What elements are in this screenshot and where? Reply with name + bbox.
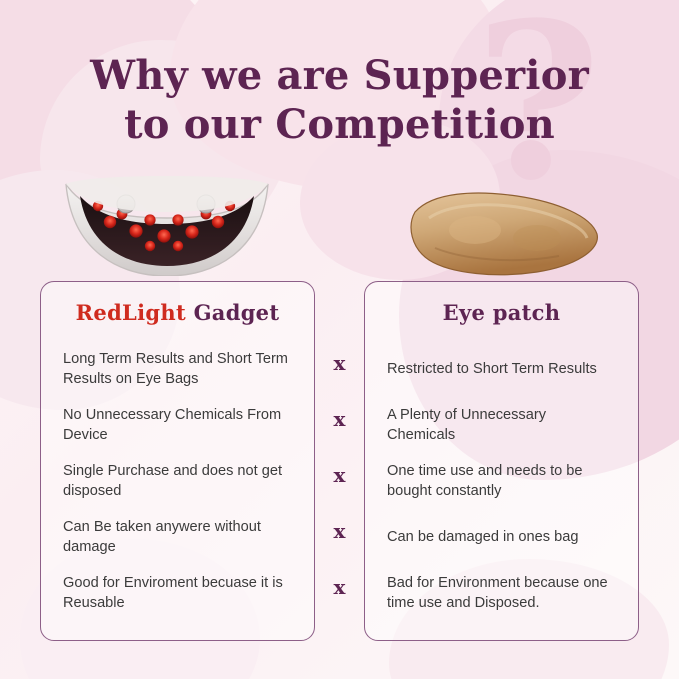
separator-mark: x	[315, 391, 364, 447]
list-item: Can be damaged in ones bag	[365, 509, 638, 565]
list-item: Single Purchase and does not get dispose…	[41, 453, 314, 509]
comparison-panel-left: RedLight Gadget Long Term Results and Sh…	[40, 281, 315, 641]
separator-column: x x x x x	[315, 335, 364, 615]
list-item: No Unnecessary Chemicals From Device	[41, 397, 314, 453]
list-item-text: Restricted to Short Term Results	[387, 359, 597, 379]
list-item-text: Long Term Results and Short Term Results…	[63, 349, 292, 389]
list-item: A Plenty of Unnecessary Chemicals	[365, 397, 638, 453]
separator-mark: x	[315, 335, 364, 391]
panel-right-rows: Restricted to Short Term Results A Plent…	[365, 341, 638, 621]
red-light-device-image	[58, 176, 276, 276]
list-item-text: Single Purchase and does not get dispose…	[63, 461, 292, 501]
page-title-line-2: to our Competition	[0, 101, 679, 150]
list-item-text: Can Be taken anywere without damage	[63, 517, 292, 557]
panel-left-title-red: RedLight	[76, 300, 186, 325]
panel-left-title: RedLight Gadget	[41, 300, 314, 325]
separator-mark: x	[315, 447, 364, 503]
promo-comparison-graphic: ? Why we are Supperior to our Competitio…	[0, 0, 679, 679]
comparison-panel-right: Eye patch Restricted to Short Term Resul…	[364, 281, 639, 641]
list-item-text: One time use and needs to be bought cons…	[387, 461, 616, 501]
panel-left-rows: Long Term Results and Short Term Results…	[41, 341, 314, 621]
list-item-text: No Unnecessary Chemicals From Device	[63, 405, 292, 445]
list-item: Bad for Environment because one time use…	[365, 565, 638, 621]
list-item-text: Good for Enviroment becuase it is Reusab…	[63, 573, 292, 613]
panel-left-title-rest: Gadget	[186, 300, 279, 325]
list-item: Restricted to Short Term Results	[365, 341, 638, 397]
list-item-text: Bad for Environment because one time use…	[387, 573, 616, 613]
eye-patch-image	[405, 190, 601, 280]
separator-mark: x	[315, 503, 364, 559]
page-title: Why we are Supperior to our Competition	[0, 52, 679, 150]
list-item: Good for Enviroment becuase it is Reusab…	[41, 565, 314, 621]
list-item: One time use and needs to be bought cons…	[365, 453, 638, 509]
page-title-line-1: Why we are Supperior	[90, 52, 589, 99]
list-item-text: Can be damaged in ones bag	[387, 527, 579, 547]
separator-mark: x	[315, 559, 364, 615]
list-item: Can Be taken anywere without damage	[41, 509, 314, 565]
list-item: Long Term Results and Short Term Results…	[41, 341, 314, 397]
list-item-text: A Plenty of Unnecessary Chemicals	[387, 405, 616, 445]
panel-right-title: Eye patch	[365, 300, 638, 325]
